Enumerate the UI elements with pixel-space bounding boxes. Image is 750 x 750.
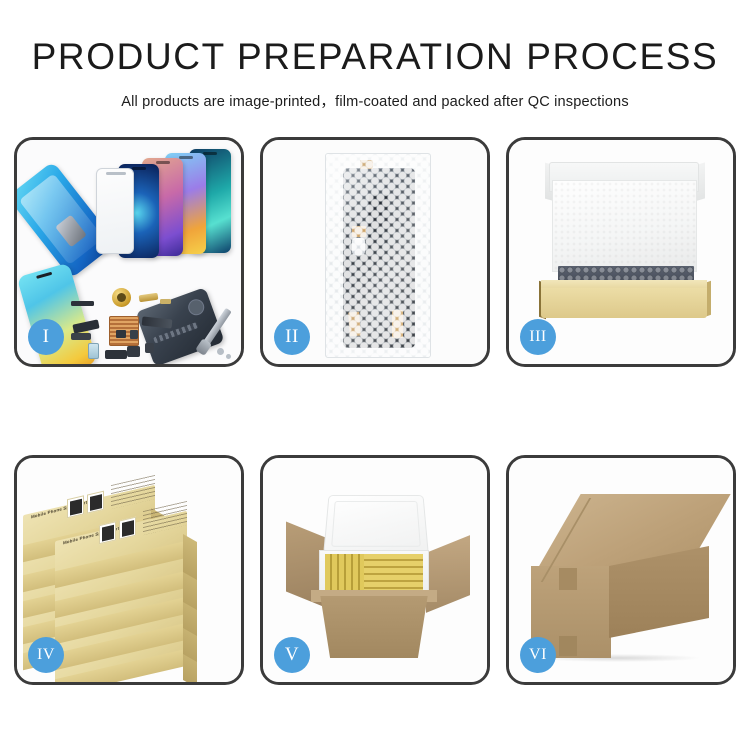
white-foam-sheet [552, 180, 697, 272]
carton-front-panel [313, 596, 435, 658]
bubble-wrap-bag [325, 153, 431, 358]
yellow-boxes-horizontal [364, 554, 423, 594]
process-step-panel-1: I [14, 137, 244, 367]
chip-part-1 [116, 330, 126, 338]
step-badge-2: II [274, 319, 310, 355]
header: PRODUCT PREPARATION PROCESS All products… [0, 0, 750, 111]
process-step-panel-3: III [506, 137, 736, 367]
gold-coil-part [112, 288, 131, 307]
part-bar-1 [71, 301, 94, 306]
step-badge-3: III [520, 319, 556, 355]
carton-tape-upper [559, 568, 577, 590]
process-step-panel-2: II [260, 137, 490, 367]
phone-notch-icon [179, 156, 193, 159]
process-step-panel-5: V [260, 455, 490, 685]
step-badge-5: V [274, 637, 310, 673]
flex-cable-2 [71, 333, 91, 340]
connector-part-2 [145, 343, 154, 353]
connector-part-1 [127, 346, 140, 357]
step-badge-1: I [28, 319, 64, 355]
yellow-boxes-vertical [325, 554, 364, 594]
phone-notch-icon [132, 167, 146, 170]
screw-part-2 [226, 354, 231, 359]
process-step-panel-6: VI [506, 455, 736, 685]
process-step-grid: I II [14, 137, 736, 685]
step-badge-6: VI [520, 637, 556, 673]
phone-notch-icon [156, 161, 170, 164]
battery-part [88, 343, 99, 359]
box-label-screen-1 [67, 495, 84, 518]
phone-notch-icon [203, 152, 217, 155]
box-label-screen-1 [99, 521, 116, 544]
step-badge-4: IV [28, 637, 64, 673]
page-title: PRODUCT PREPARATION PROCESS [0, 38, 750, 75]
flex-cable-4 [105, 350, 127, 359]
screw-part-1 [217, 348, 224, 355]
carton-tape-lower [559, 636, 577, 656]
tempered-glass-panel [96, 168, 134, 254]
plastic-sheen [326, 154, 430, 357]
box-side [183, 534, 197, 580]
page-subtitle: All products are image-printed，film-coat… [0, 90, 750, 111]
foam-box-lid [323, 495, 429, 554]
foam-box-contents [325, 554, 423, 594]
chip-part-2 [130, 330, 138, 339]
box-label-screen-2 [87, 491, 104, 514]
part-bar-3 [160, 299, 171, 304]
box-front-panel [541, 288, 707, 318]
box-label-screen-2 [119, 517, 136, 540]
process-step-panel-4: Mobile Phone Spare Parts [14, 455, 244, 685]
